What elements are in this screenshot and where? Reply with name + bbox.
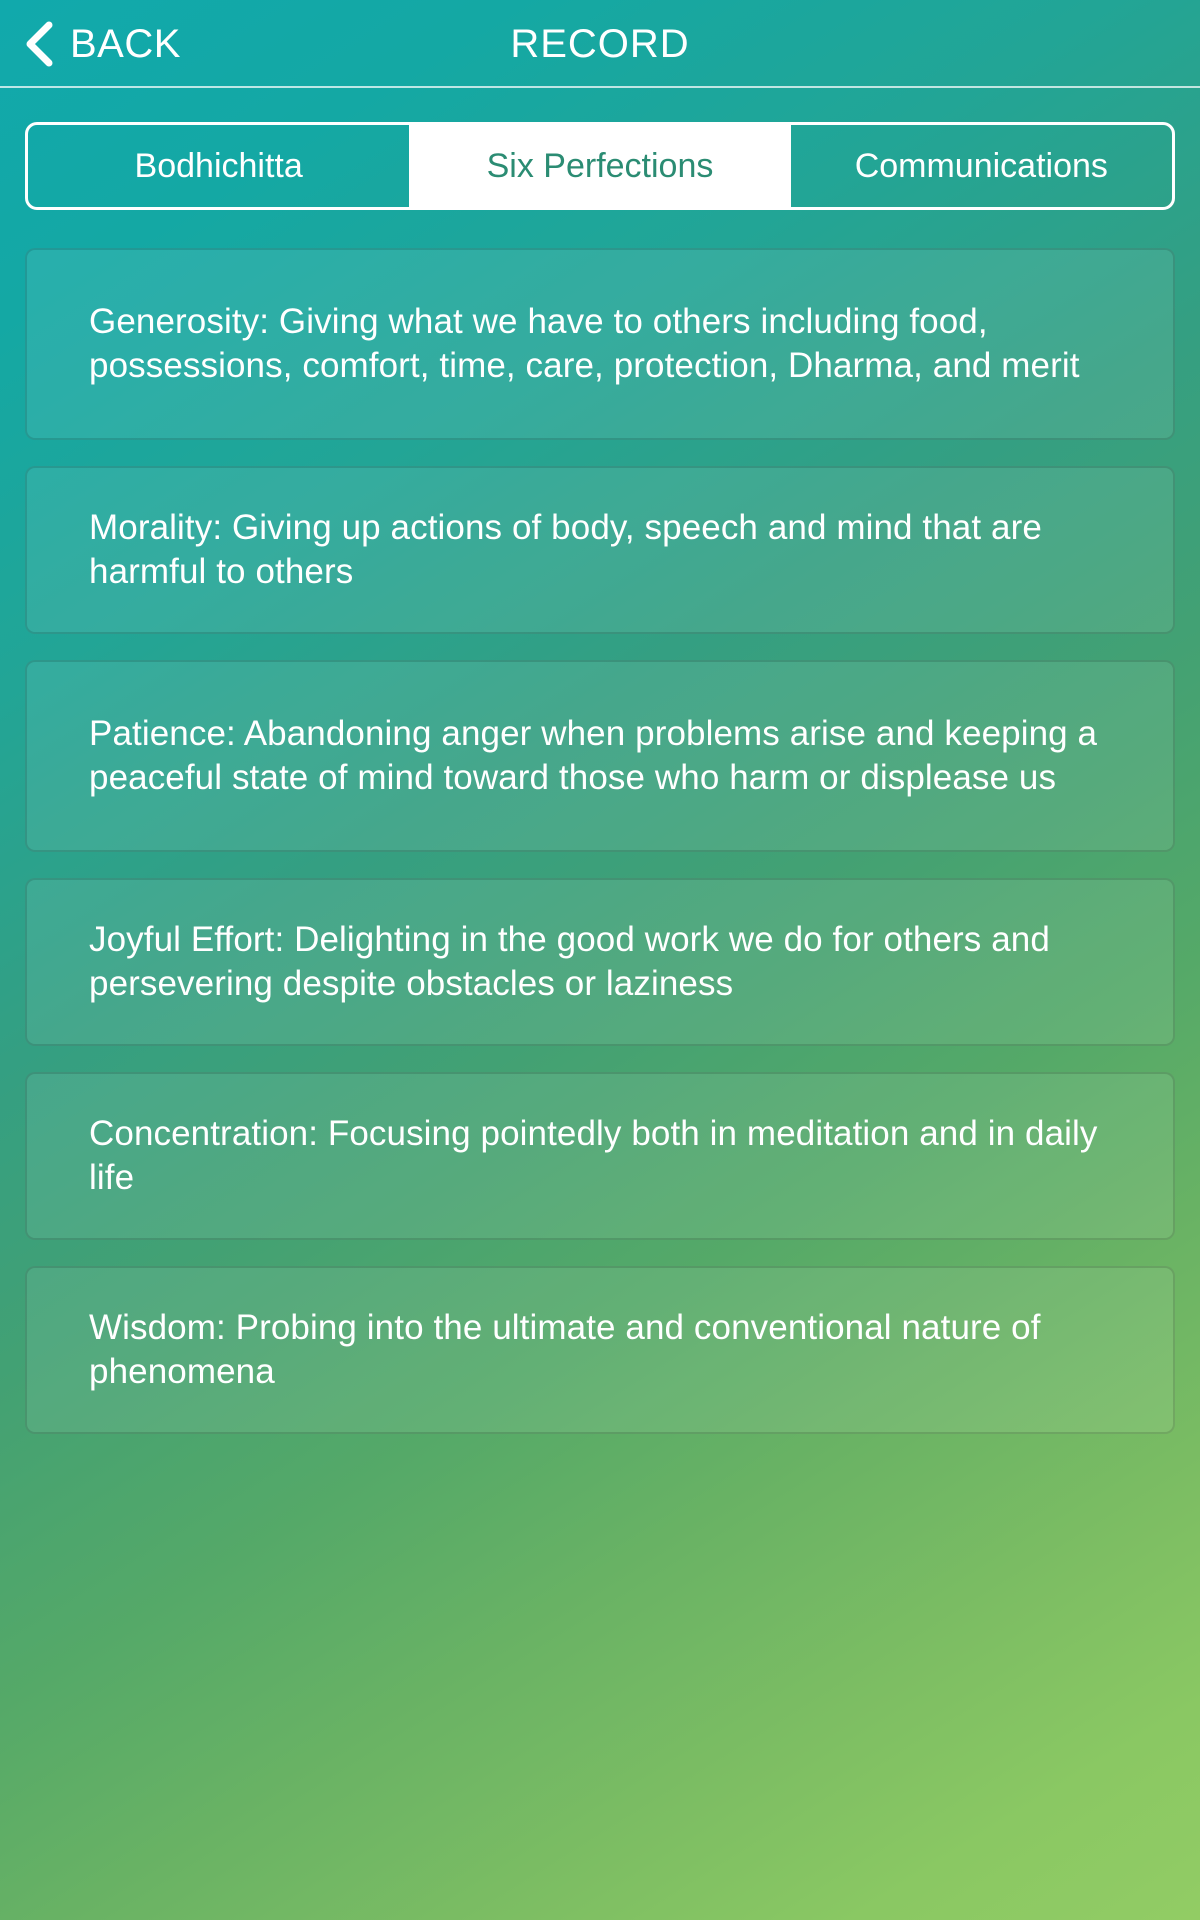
list-item-text: Morality: Giving up actions of body, spe… — [89, 506, 1111, 595]
tab-six-perfections[interactable]: Six Perfections — [409, 125, 790, 207]
back-button[interactable]: BACK — [0, 20, 181, 68]
tab-label: Six Perfections — [487, 147, 714, 186]
list-item[interactable]: Concentration: Focusing pointedly both i… — [25, 1072, 1175, 1240]
list-item[interactable]: Generosity: Giving what we have to other… — [25, 248, 1175, 440]
list-item-text: Joyful Effort: Delighting in the good wo… — [89, 918, 1111, 1007]
list-item[interactable]: Wisdom: Probing into the ultimate and co… — [25, 1266, 1175, 1434]
tab-label: Bodhichitta — [135, 147, 303, 186]
tab-bodhichitta[interactable]: Bodhichitta — [28, 125, 409, 207]
back-button-label: BACK — [70, 24, 181, 64]
list-item[interactable]: Joyful Effort: Delighting in the good wo… — [25, 878, 1175, 1046]
list-item[interactable]: Morality: Giving up actions of body, spe… — [25, 466, 1175, 634]
list-item-text: Wisdom: Probing into the ultimate and co… — [89, 1306, 1111, 1395]
perfection-list: Generosity: Giving what we have to other… — [25, 248, 1175, 1460]
list-item-text: Patience: Abandoning anger when problems… — [89, 712, 1111, 801]
app-screen: BACK RECORD Bodhichitta Six Perfections … — [0, 0, 1200, 1920]
list-item[interactable]: Patience: Abandoning anger when problems… — [25, 660, 1175, 852]
chevron-left-icon — [22, 20, 56, 68]
list-item-text: Concentration: Focusing pointedly both i… — [89, 1112, 1111, 1201]
tab-bar: Bodhichitta Six Perfections Communicatio… — [25, 122, 1175, 210]
tab-communications[interactable]: Communications — [791, 125, 1172, 207]
navigation-bar: BACK RECORD — [0, 0, 1200, 88]
list-item-text: Generosity: Giving what we have to other… — [89, 300, 1111, 389]
tab-label: Communications — [855, 147, 1108, 186]
